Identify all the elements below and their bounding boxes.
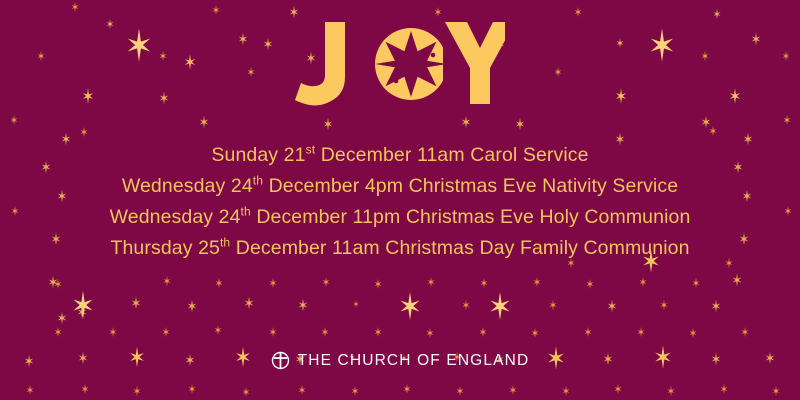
decorative-star-icon xyxy=(771,386,781,396)
decorative-star-icon xyxy=(508,385,518,395)
decorative-star-icon xyxy=(425,328,435,338)
decorative-star-icon xyxy=(530,328,540,338)
decorative-star-icon xyxy=(320,327,330,337)
service-line: Wednesday 24th December 11pm Christmas E… xyxy=(110,202,691,233)
decorative-star-icon xyxy=(433,7,443,17)
decorative-star-icon xyxy=(350,386,360,396)
decorative-star-icon xyxy=(322,118,335,131)
decorative-star-icon xyxy=(461,300,471,310)
decorative-star-icon xyxy=(606,300,619,313)
service-line: Sunday 21st December 11am Carol Service xyxy=(211,140,588,171)
decorative-star-icon xyxy=(666,386,676,396)
church-of-england-logo: THE CHURCH OF ENGLAND xyxy=(0,351,800,370)
service-ordinal: th xyxy=(220,236,230,250)
decorative-star-icon xyxy=(9,115,19,125)
decorative-star-icon xyxy=(297,385,307,395)
decorative-star-icon xyxy=(573,7,583,17)
decorative-star-icon xyxy=(132,386,142,396)
decorative-star-icon xyxy=(161,327,171,337)
decorative-star-icon xyxy=(532,277,542,287)
decorative-star-icon xyxy=(70,2,80,12)
decorative-star-icon xyxy=(211,5,221,15)
letter-j-glyph xyxy=(295,22,345,105)
decorative-star-icon xyxy=(56,312,69,325)
decorative-star-icon xyxy=(479,278,489,288)
decorative-star-icon xyxy=(213,325,223,335)
decorative-star-icon xyxy=(688,328,698,338)
decorative-star-icon xyxy=(710,300,723,313)
decorative-star-icon xyxy=(583,327,593,337)
decorative-star-icon xyxy=(198,116,211,129)
decorative-star-icon xyxy=(514,118,527,131)
decorative-star-icon xyxy=(162,276,172,286)
decorative-star-icon xyxy=(638,277,648,287)
letter-y-glyph xyxy=(443,18,505,110)
decorative-star-icon xyxy=(268,327,278,337)
decorative-star-icon xyxy=(731,274,744,287)
decorative-star-icon xyxy=(79,127,89,137)
decorative-star-icon xyxy=(373,279,383,289)
decorative-star-icon xyxy=(297,299,310,312)
decorative-star-icon xyxy=(69,291,98,319)
decorative-star-icon xyxy=(613,384,623,394)
decorative-star-icon xyxy=(548,300,558,310)
decorative-star-icon xyxy=(321,277,331,287)
decorative-star-icon xyxy=(700,116,713,129)
decorative-star-icon xyxy=(25,385,35,395)
decorative-star-icon xyxy=(268,278,278,288)
service-line: Thursday 25th December 11am Christmas Da… xyxy=(110,233,689,264)
decorative-star-icon xyxy=(53,327,63,337)
cross-in-circle-icon xyxy=(271,351,290,370)
decorative-star-icon xyxy=(373,327,383,337)
decorative-star-icon xyxy=(708,126,718,136)
service-ordinal: st xyxy=(306,143,316,157)
service-suffix: December 11am Christmas Day Family Commu… xyxy=(230,237,689,259)
decorative-star-icon xyxy=(53,279,63,289)
joy-wordmark xyxy=(0,18,800,110)
letter-o-star-glyph xyxy=(375,28,443,100)
service-ordinal: th xyxy=(253,174,263,188)
decorative-star-icon xyxy=(243,297,256,310)
decorative-star-icon xyxy=(288,6,301,19)
decorative-star-icon xyxy=(108,327,118,337)
service-times-list: Sunday 21st December 11am Carol Service … xyxy=(0,140,800,264)
decorative-star-icon xyxy=(719,384,729,394)
decorative-star-icon xyxy=(426,277,436,287)
service-suffix: December 4pm Christmas Eve Nativity Serv… xyxy=(263,175,678,197)
decorative-star-icon xyxy=(80,384,90,394)
decorative-star-icon xyxy=(585,279,595,289)
decorative-star-icon xyxy=(187,384,197,394)
decorative-star-icon xyxy=(636,327,646,337)
service-suffix: December 11pm Christmas Eve Holy Communi… xyxy=(251,206,691,228)
church-of-england-wordmark: THE CHURCH OF ENGLAND xyxy=(298,352,530,370)
decorative-star-icon xyxy=(740,327,750,337)
decorative-star-icon xyxy=(782,115,792,125)
service-line: Wednesday 24th December 4pm Christmas Ev… xyxy=(122,171,678,202)
decorative-star-icon xyxy=(486,292,515,320)
decorative-star-icon xyxy=(130,297,143,310)
decorative-star-icon xyxy=(460,116,473,129)
service-suffix: December 11am Carol Service xyxy=(315,144,588,166)
decorative-star-icon xyxy=(214,278,224,288)
decorative-star-icon xyxy=(352,300,360,308)
decorative-star-icon xyxy=(659,300,669,310)
decorative-star-icon xyxy=(76,306,89,319)
christmas-services-poster: Sunday 21st December 11am Carol Service … xyxy=(0,0,800,400)
service-prefix: Wednesday 24 xyxy=(122,175,253,197)
decorative-star-icon xyxy=(455,386,465,396)
service-prefix: Thursday 25 xyxy=(110,237,220,259)
decorative-star-icon xyxy=(561,386,571,396)
service-prefix: Sunday 21 xyxy=(211,144,305,166)
service-ordinal: th xyxy=(241,205,251,219)
decorative-star-icon xyxy=(186,300,199,313)
joy-wordmark-letters xyxy=(295,18,443,110)
decorative-star-icon xyxy=(241,387,251,397)
decorative-star-icon xyxy=(402,384,412,394)
decorative-star-icon xyxy=(47,276,60,289)
decorative-star-icon xyxy=(478,327,488,337)
decorative-star-icon xyxy=(396,292,425,320)
decorative-star-icon xyxy=(691,278,701,288)
service-prefix: Wednesday 24 xyxy=(110,206,241,228)
